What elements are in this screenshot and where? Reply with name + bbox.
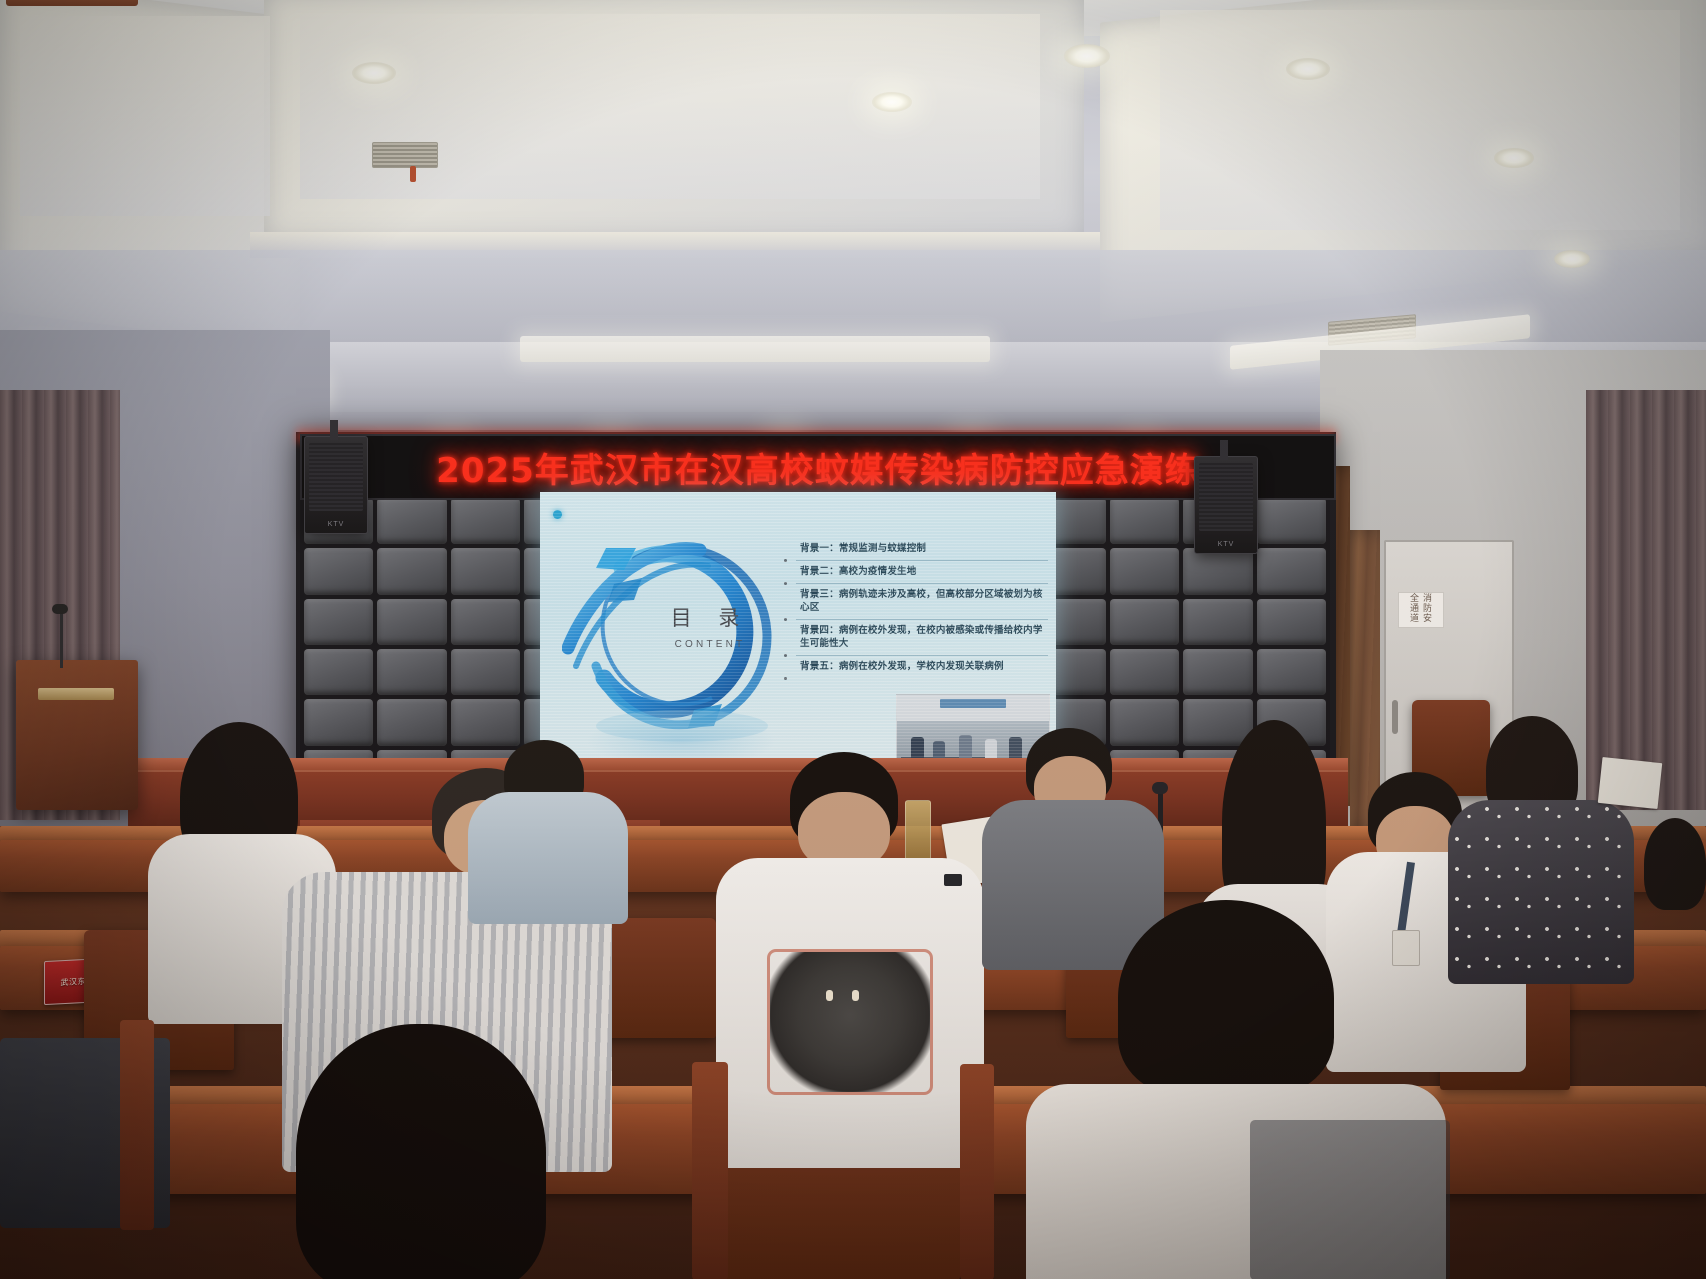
slide-toc-text-5: 背景五：病例在校外发现，学校内发现关联病例 [800, 660, 1046, 673]
speaker-mount-right [1220, 440, 1228, 460]
acoustic-pad [451, 599, 520, 645]
chair-wood-frame-center [692, 1062, 728, 1279]
slide-toc-label-3: 背景三： [800, 589, 839, 600]
slide-toc-item-4: 背景四：病例在校外发现，在校内被感染或传播给校内学生可能性大 [796, 620, 1048, 656]
downlight-6 [872, 92, 912, 112]
slide-toc-label-2: 背景二： [800, 566, 839, 577]
speaker-mount-left [330, 420, 338, 440]
slide-toc-text-1: 背景一：常规监测与蚊媒控制 [800, 542, 1046, 555]
acoustic-pad [304, 548, 373, 594]
speaker-grille [309, 443, 363, 511]
speaker-badge-left: KTV [305, 521, 367, 528]
attendee-torso [1448, 800, 1634, 984]
speaker-badge-right: KTV [1195, 541, 1257, 548]
jacket-graphic-eye-left [826, 990, 833, 1001]
downlight-1 [352, 62, 396, 84]
ceiling-vent-left [372, 142, 438, 168]
slide-heading-block: 目 录 CONTENT [650, 602, 770, 650]
jacket-graphic [770, 952, 930, 1092]
acoustic-pad [377, 599, 446, 645]
acoustic-pad [377, 498, 446, 544]
downlight-4 [1494, 148, 1534, 168]
acoustic-pad [304, 649, 373, 695]
jacket-graphic-eye-right [852, 990, 859, 1001]
acoustic-pad [1110, 548, 1179, 594]
microphone-head-icon [1152, 782, 1168, 794]
acoustic-pad [1183, 649, 1252, 695]
chair-front-right[interactable] [1250, 1120, 1450, 1279]
slide-toc-item-3: 背景三：病例轨迹未涉及高校，但高校部分区域被划为核心区 [796, 584, 1048, 620]
slide-toc-item-5: 背景五：病例在校外发现，学校内发现关联病例 [796, 656, 1048, 678]
attendee-torso [468, 792, 628, 924]
acoustic-pad [451, 498, 520, 544]
acoustic-pad [377, 699, 446, 745]
slide-toc-body-5: 病例在校外发现，学校内发现关联病例 [839, 661, 1004, 672]
speaker-grille [1199, 463, 1253, 531]
slide-toc-item-2: 背景二：高校为疫情发生地 [796, 561, 1048, 584]
slide-toc-item-1: 背景一：常规监测与蚊媒控制 [796, 538, 1048, 561]
slide-accent-dot [553, 510, 562, 519]
curtain-right [1586, 390, 1706, 810]
speaker-left: KTV [304, 436, 368, 534]
downlight-2 [1064, 44, 1110, 68]
wood-panel-far-right [1350, 530, 1380, 830]
acoustic-pad [1110, 699, 1179, 745]
ceiling-light-panel-center [520, 336, 990, 362]
acoustic-pad [304, 599, 373, 645]
slide-toc-list: 背景一：常规监测与蚊媒控制 背景二：高校为疫情发生地 背景三：病例轨迹未涉及高校… [796, 538, 1048, 678]
slide-toc-label-4: 背景四： [800, 625, 839, 636]
acoustic-pad [1257, 498, 1326, 544]
slide-toc-body-1: 常规监测与蚊媒控制 [839, 543, 926, 554]
led-banner: 2025年武汉市在汉高校蚊媒传染病防控应急演练 [300, 434, 1336, 500]
slide-heading-en: CONTENT [650, 639, 770, 650]
attendee-hair [1644, 818, 1706, 910]
acoustic-pad [451, 649, 520, 695]
acoustic-pad [377, 649, 446, 695]
wristwatch-icon [944, 874, 962, 886]
acoustic-pad [304, 699, 373, 745]
inset-photo-sign [940, 699, 1007, 708]
acoustic-pad [451, 548, 520, 594]
slide-toc-label-5: 背景五： [800, 661, 839, 672]
acoustic-pad [1257, 599, 1326, 645]
slide-toc-body-2: 高校为疫情发生地 [839, 566, 917, 577]
acoustic-pad [1257, 548, 1326, 594]
sprinkler-head [410, 166, 416, 182]
acoustic-pad [1110, 498, 1179, 544]
acoustic-pad [1110, 649, 1179, 695]
projected-slide: 目 录 CONTENT 背景一：常规监测与蚊媒控制 背景二：高校为疫情发生地 背… [540, 492, 1056, 772]
podium-top [6, 0, 138, 6]
exit-door-sign: 消防安全通道 [1398, 592, 1444, 628]
conference-hall-photo: 消防安全通道 2025年武汉市在汉高校蚊媒传染病防控应急演练 KTV KTV [0, 0, 1706, 1279]
podium-plate [38, 688, 114, 700]
chair-back-2[interactable] [596, 918, 716, 1038]
slide-toc-label-1: 背景一： [800, 543, 839, 554]
tablet-device[interactable] [1598, 757, 1662, 809]
ceiling-inner-right [1160, 10, 1680, 230]
podium-mic-stand [60, 612, 63, 668]
attendee-hair [296, 1024, 546, 1279]
attendee-hair [1118, 900, 1334, 1096]
slide-heading-cn: 目 录 [650, 602, 770, 632]
chair-wood-frame-left [120, 1020, 154, 1230]
downlight-5 [1554, 250, 1590, 268]
slide-toc-text-3: 背景三：病例轨迹未涉及高校，但高校部分区域被划为核心区 [800, 588, 1046, 614]
podium [16, 660, 138, 810]
acoustic-pad [377, 548, 446, 594]
acoustic-pad [1257, 649, 1326, 695]
slide-toc-text-2: 背景二：高校为疫情发生地 [800, 565, 1046, 578]
slide-toc-text-4: 背景四：病例在校外发现，在校内被感染或传播给校内学生可能性大 [800, 624, 1046, 650]
led-banner-text: 2025年武汉市在汉高校蚊媒传染病防控应急演练 [302, 436, 1334, 498]
acoustic-pad [1110, 599, 1179, 645]
acoustic-pad [451, 699, 520, 745]
ceiling-inner-left [20, 16, 270, 216]
lanyard-badge [1392, 930, 1420, 966]
podium-mic-icon [52, 604, 68, 614]
door-handle-icon[interactable] [1392, 700, 1398, 734]
acoustic-pad [1183, 599, 1252, 645]
acoustic-pad [1183, 548, 1252, 594]
speaker-right: KTV [1194, 456, 1258, 554]
downlight-3 [1286, 58, 1330, 80]
chair-wood-frame-right [960, 1064, 994, 1279]
tea-cup[interactable] [905, 800, 931, 864]
